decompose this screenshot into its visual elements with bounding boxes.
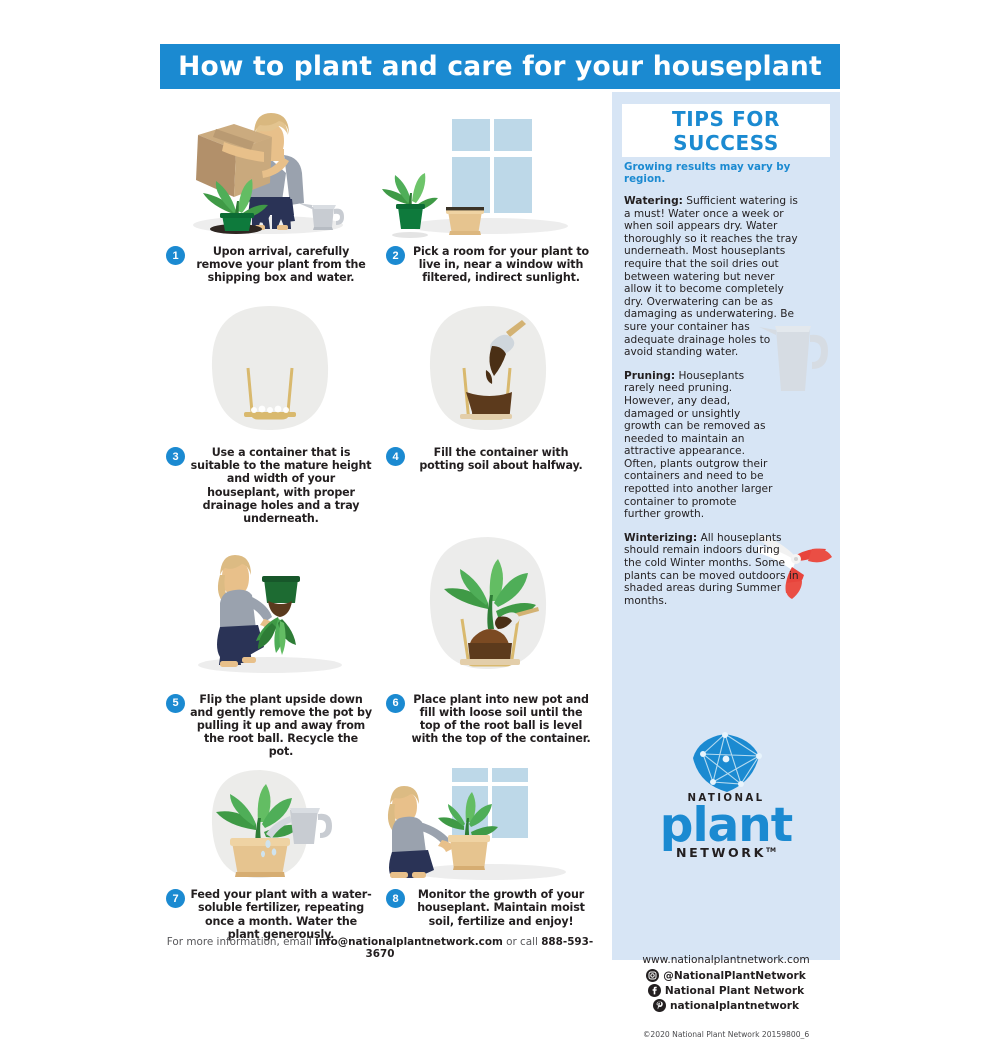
step-row: 3 Use a container that is suitable to th… [160, 296, 600, 525]
tips-panel: TIPS FOR SUCCESS Growing results may var… [612, 92, 840, 960]
step-2: 2 Pick a room for your plant to live in,… [380, 89, 600, 284]
logo-network-word: NETWORK [676, 845, 766, 860]
infographic-poster: How to plant and care for your houseplan… [0, 0, 1000, 1000]
step-1: 1 Upon arrival, carefully remove your pl… [160, 89, 380, 284]
tip-watering-label: Watering: [624, 195, 683, 207]
step-3: 3 Use a container that is suitable to th… [160, 296, 380, 525]
step-4-illustration [380, 296, 600, 444]
step-6-caption: 6 Place plant into new pot and fill with… [380, 691, 600, 745]
step-6: 6 Place plant into new pot and fill with… [380, 531, 600, 758]
pinterest-icon [653, 999, 666, 1012]
tip-pruning-text: Houseplants rarely need pruning. However… [624, 370, 772, 521]
step-row: 1 Upon arrival, carefully remove your pl… [160, 89, 600, 284]
copyright-text: ©2020 National Plant Network 20159800_6 [612, 1030, 840, 1039]
step-3-caption: 3 Use a container that is suitable to th… [160, 444, 380, 525]
tip-watering-text: Sufficient watering is a must! Water onc… [624, 195, 798, 358]
facebook-name[interactable]: National Plant Network [665, 985, 804, 997]
tip-winterizing-label: Winterizing: [624, 532, 697, 544]
step-5-caption: 5 Flip the plant upside down and gently … [160, 691, 380, 758]
step-1-caption: 1 Upon arrival, carefully remove your pl… [160, 243, 380, 284]
step-7: 7 Feed your plant with a water-soluble f… [160, 768, 380, 940]
step-7-text: Feed your plant with a water-soluble fer… [190, 888, 372, 940]
step-8-number: 8 [386, 889, 405, 908]
tips-heading: TIPS FOR SUCCESS [672, 107, 780, 155]
instagram-handle[interactable]: @NationalPlantNetwork [663, 970, 806, 982]
tip-watering: Watering: Sufficient watering is a must!… [624, 195, 800, 359]
step-3-illustration [160, 296, 380, 444]
step-4-caption: 4 Fill the container with potting soil a… [380, 444, 600, 472]
tips-body: Watering: Sufficient watering is a must!… [624, 195, 828, 607]
pinterest-row[interactable]: nationalplantnetwork [612, 999, 840, 1012]
step-4-text: Fill the container with potting soil abo… [410, 446, 592, 472]
poster-header: How to plant and care for your houseplan… [160, 44, 840, 89]
instagram-row[interactable]: @NationalPlantNetwork [612, 969, 840, 982]
social-links: www.nationalplantnetwork.com @NationalPl… [612, 954, 840, 1014]
logo-network-text: NETWORKTM [612, 845, 840, 860]
step-2-illustration [380, 89, 600, 243]
facebook-icon [648, 984, 661, 997]
logo-tm-mark: TM [766, 847, 776, 854]
step-2-text: Pick a room for your plant to live in, n… [410, 245, 592, 284]
step-8-illustration [380, 768, 600, 886]
step-6-illustration [380, 531, 600, 691]
step-5-text: Flip the plant upside down and gently re… [190, 693, 372, 758]
step-8-caption: 8 Monitor the growth of your houseplant.… [380, 886, 600, 927]
instagram-icon [646, 969, 659, 982]
step-1-illustration [160, 89, 380, 243]
tip-pruning-label: Pruning: [624, 370, 675, 382]
step-row: 5 Flip the plant upside down and gently … [160, 531, 600, 758]
page-title: How to plant and care for your houseplan… [178, 51, 822, 82]
step-3-text: Use a container that is suitable to the … [190, 446, 372, 525]
step-2-caption: 2 Pick a room for your plant to live in,… [380, 243, 600, 284]
step-1-number: 1 [166, 246, 185, 265]
footer-email[interactable]: info@nationalplantnetwork.com [315, 936, 503, 948]
step-8: 8 Monitor the growth of your houseplant.… [380, 768, 600, 940]
tip-pruning: Pruning: Houseplants rarely need pruning… [624, 370, 774, 521]
step-6-text: Place plant into new pot and fill with l… [410, 693, 592, 745]
step-5: 5 Flip the plant upside down and gently … [160, 531, 380, 758]
step-row: 7 Feed your plant with a water-soluble f… [160, 768, 600, 940]
step-7-illustration [160, 768, 380, 886]
logo-plant-text: plant [612, 804, 840, 848]
step-4-number: 4 [386, 447, 405, 466]
tip-winterizing: Winterizing: All houseplants should rema… [624, 532, 800, 608]
tips-subheading: Growing results may vary by region. [624, 161, 828, 185]
step-6-number: 6 [386, 694, 405, 713]
footer-middle: or call [503, 936, 541, 948]
step-7-caption: 7 Feed your plant with a water-soluble f… [160, 886, 380, 940]
step-5-number: 5 [166, 694, 185, 713]
step-5-illustration [160, 531, 380, 691]
step-7-number: 7 [166, 889, 185, 908]
contact-footer: For more information, email info@nationa… [160, 936, 600, 960]
footer-prefix: For more information, email [167, 936, 315, 948]
step-8-text: Monitor the growth of your houseplant. M… [410, 888, 592, 927]
step-4: 4 Fill the container with potting soil a… [380, 296, 600, 525]
steps-area: 1 Upon arrival, carefully remove your pl… [160, 89, 600, 960]
pinterest-handle[interactable]: nationalplantnetwork [670, 1000, 799, 1012]
step-1-text: Upon arrival, carefully remove your plan… [190, 245, 372, 284]
brand-logo: NATIONAL plant NETWORKTM [612, 732, 840, 860]
step-3-number: 3 [166, 447, 185, 466]
tips-heading-box: TIPS FOR SUCCESS [622, 104, 830, 157]
step-2-number: 2 [386, 246, 405, 265]
facebook-row[interactable]: National Plant Network [612, 984, 840, 997]
website-url[interactable]: www.nationalplantnetwork.com [612, 954, 840, 966]
